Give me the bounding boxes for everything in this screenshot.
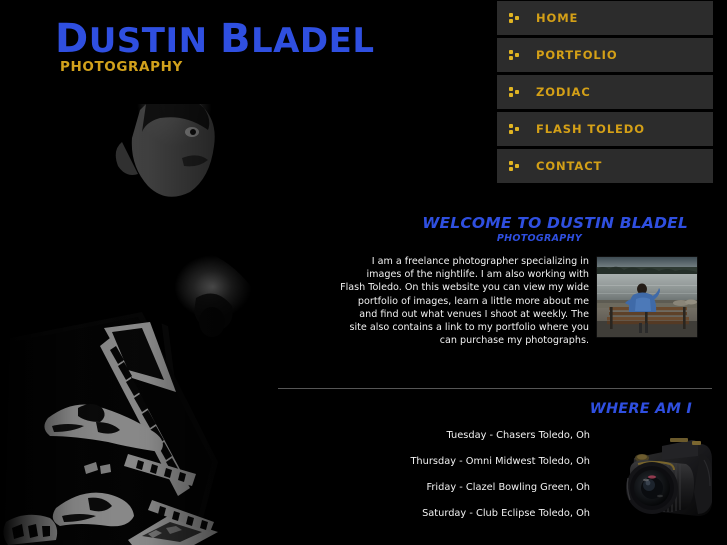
section-divider <box>278 388 712 389</box>
nav-item-contact-label: CONTACT <box>536 159 602 173</box>
nav-item-contact[interactable]: CONTACT <box>497 149 713 183</box>
three-dot-bullet-icon <box>508 121 524 137</box>
dslr-camera-photo-graphic <box>608 430 720 534</box>
welcome-body: I am a freelance photographer specializi… <box>340 255 727 347</box>
schedule-item: Friday - Clazel Bowling Green, Oh <box>340 482 590 494</box>
schedule-list: Tuesday - Chasers Toledo, Oh Thursday - … <box>340 430 590 534</box>
dslr-camera-photo <box>608 430 720 534</box>
schedule-item: Tuesday - Chasers Toledo, Oh <box>340 430 590 442</box>
nav-item-portfolio-label: PORTFOLIO <box>536 48 618 62</box>
site-logo[interactable]: DUSTIN BLADEL PHOTOGRAPHY <box>55 22 355 84</box>
nav-item-portfolio[interactable]: PORTFOLIO <box>497 38 713 72</box>
welcome-heading: WELCOME TO DUSTIN BLADEL <box>340 214 727 232</box>
welcome-section: WELCOME TO DUSTIN BLADEL PHOTOGRAPHY I a… <box>340 214 727 347</box>
welcome-paragraph: I am a freelance photographer specializi… <box>340 255 593 347</box>
hero-dj-photo-graphic <box>0 70 330 545</box>
nav-item-flash-toledo[interactable]: FLASH TOLEDO <box>497 112 713 146</box>
nav-item-home-label: HOME <box>536 11 578 25</box>
nav-item-home[interactable]: HOME <box>497 1 713 35</box>
three-dot-bullet-icon <box>508 47 524 63</box>
welcome-subheading: PHOTOGRAPHY <box>340 233 727 245</box>
where-am-i-heading: WHERE AM I <box>340 400 727 418</box>
bench-lake-photo-graphic <box>595 255 699 339</box>
three-dot-bullet-icon <box>508 10 524 26</box>
logo-sub-text: PHOTOGRAPHY <box>60 60 355 75</box>
nav-item-zodiac[interactable]: ZODIAC <box>497 75 713 109</box>
bench-lake-photo <box>595 255 699 339</box>
main-navigation: HOME PORTFOLIO ZODIAC FLASH TOLEDO CONTA <box>497 1 713 186</box>
hero-dj-photo <box>0 70 330 545</box>
nav-item-zodiac-label: ZODIAC <box>536 85 591 99</box>
nav-item-flash-toledo-label: FLASH TOLEDO <box>536 122 645 136</box>
logo-main-text: DUSTIN BLADEL <box>55 22 355 58</box>
page-root: DUSTIN BLADEL PHOTOGRAPHY HOME PORTFOLIO… <box>0 0 727 545</box>
where-am-i-section: WHERE AM I Tuesday - Chasers Toledo, Oh … <box>340 400 727 534</box>
schedule-item: Thursday - Omni Midwest Toledo, Oh <box>340 456 590 468</box>
schedule-item: Saturday - Club Eclipse Toledo, Oh <box>340 508 590 520</box>
three-dot-bullet-icon <box>508 158 524 174</box>
where-am-i-body: Tuesday - Chasers Toledo, Oh Thursday - … <box>340 430 727 534</box>
three-dot-bullet-icon <box>508 84 524 100</box>
